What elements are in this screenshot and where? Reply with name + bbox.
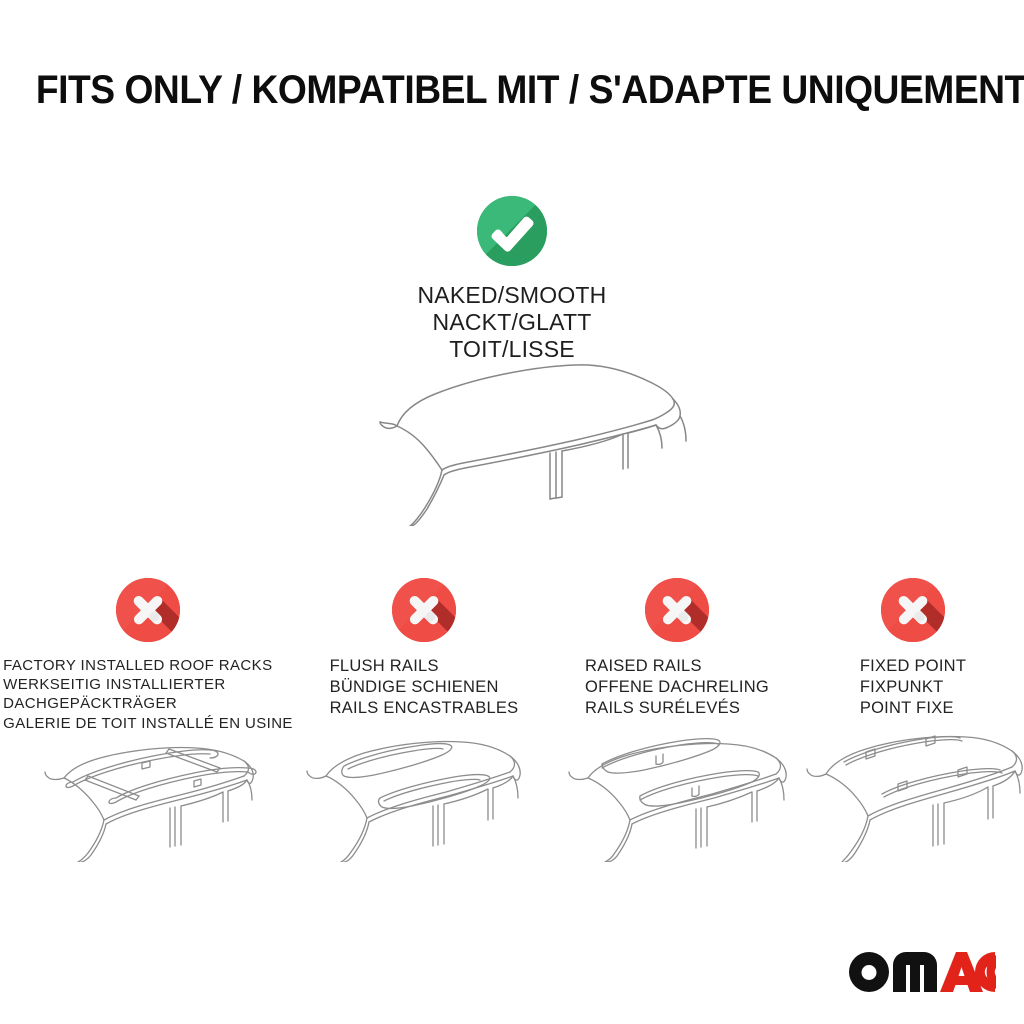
caption-line-2: OFFENE DACHRELING bbox=[585, 677, 769, 698]
caption-line-1: FIXED POINT bbox=[860, 656, 966, 677]
cross-circle-icon bbox=[881, 578, 945, 642]
cross-mark-icon bbox=[392, 578, 456, 642]
incompatible-caption: FLUSH RAILS BÜNDIGE SCHIENEN RAILS ENCAS… bbox=[330, 656, 519, 719]
incompatible-illustrations bbox=[0, 722, 1024, 862]
cross-circle-icon bbox=[116, 578, 180, 642]
page-title: FITS ONLY / KOMPATIBEL MIT / S'ADAPTE UN… bbox=[36, 68, 988, 113]
incompatible-item-flush-rails: FLUSH RAILS BÜNDIGE SCHIENEN RAILS ENCAS… bbox=[296, 578, 552, 719]
incompatible-caption: RAISED RAILS OFFENE DACHRELING RAILS SUR… bbox=[585, 656, 769, 719]
compatible-caption: NAKED/SMOOTH NACKT/GLATT TOIT/LISSE bbox=[0, 282, 1024, 363]
compatible-caption-line-en: NAKED/SMOOTH bbox=[0, 282, 1024, 309]
incompatible-item-raised-rails: RAISED RAILS OFFENE DACHRELING RAILS SUR… bbox=[552, 578, 802, 719]
car-roof-factory-installed-racks-illustration bbox=[18, 722, 278, 862]
car-roof-fixed-point-drawing bbox=[798, 722, 1024, 862]
cross-mark-icon bbox=[645, 578, 709, 642]
car-roof-flush-rails-illustration bbox=[288, 722, 548, 862]
car-roof-raised-rails-illustration bbox=[556, 722, 816, 862]
car-roof-raised-rails-drawing bbox=[556, 722, 816, 862]
cross-circle-icon bbox=[392, 578, 456, 642]
caption-line-2: BÜNDIGE SCHIENEN bbox=[330, 677, 519, 698]
car-roof-factory-racks-drawing bbox=[18, 722, 278, 862]
check-circle-icon bbox=[477, 196, 547, 266]
caption-line-3: RAILS ENCASTRABLES bbox=[330, 698, 519, 719]
caption-line-2: FIXPUNKT bbox=[860, 677, 966, 698]
cross-mark-icon bbox=[881, 578, 945, 642]
car-roof-naked-smooth-illustration bbox=[340, 356, 690, 526]
omac-logo-letter-o bbox=[849, 952, 889, 992]
caption-line-1: FACTORY INSTALLED ROOF RACKS bbox=[3, 656, 293, 675]
car-roof-flush-rails-drawing bbox=[288, 722, 548, 862]
check-mark-icon bbox=[477, 196, 547, 266]
omac-logo-mark bbox=[846, 946, 996, 1002]
caption-line-3: DACHGEPÄCKTRÄGER bbox=[3, 694, 293, 713]
incompatible-section: FACTORY INSTALLED ROOF RACKS WERKSEITIG … bbox=[0, 578, 1024, 733]
cross-circle-icon bbox=[645, 578, 709, 642]
incompatible-item-factory-installed-roof-racks: FACTORY INSTALLED ROOF RACKS WERKSEITIG … bbox=[0, 578, 296, 733]
caption-line-3: RAILS SURÉLEVÉS bbox=[585, 698, 769, 719]
incompatible-item-fixed-point: FIXED POINT FIXPUNKT POINT FIXE bbox=[802, 578, 1024, 719]
cross-mark-icon bbox=[116, 578, 180, 642]
compatible-section: NAKED/SMOOTH NACKT/GLATT TOIT/LISSE bbox=[0, 196, 1024, 363]
compatible-caption-line-de: NACKT/GLATT bbox=[0, 309, 1024, 336]
omac-logo-letter-m bbox=[893, 952, 937, 992]
caption-line-1: RAISED RAILS bbox=[585, 656, 769, 677]
car-roof-fixed-point-illustration bbox=[798, 722, 1024, 862]
omac-logo bbox=[846, 946, 996, 1002]
caption-line-2: WERKSEITIG INSTALLIERTER bbox=[3, 675, 293, 694]
car-roof-naked-smooth-drawing bbox=[340, 356, 690, 526]
incompatible-caption: FIXED POINT FIXPUNKT POINT FIXE bbox=[860, 656, 966, 719]
caption-line-3: POINT FIXE bbox=[860, 698, 966, 719]
caption-line-1: FLUSH RAILS bbox=[330, 656, 519, 677]
